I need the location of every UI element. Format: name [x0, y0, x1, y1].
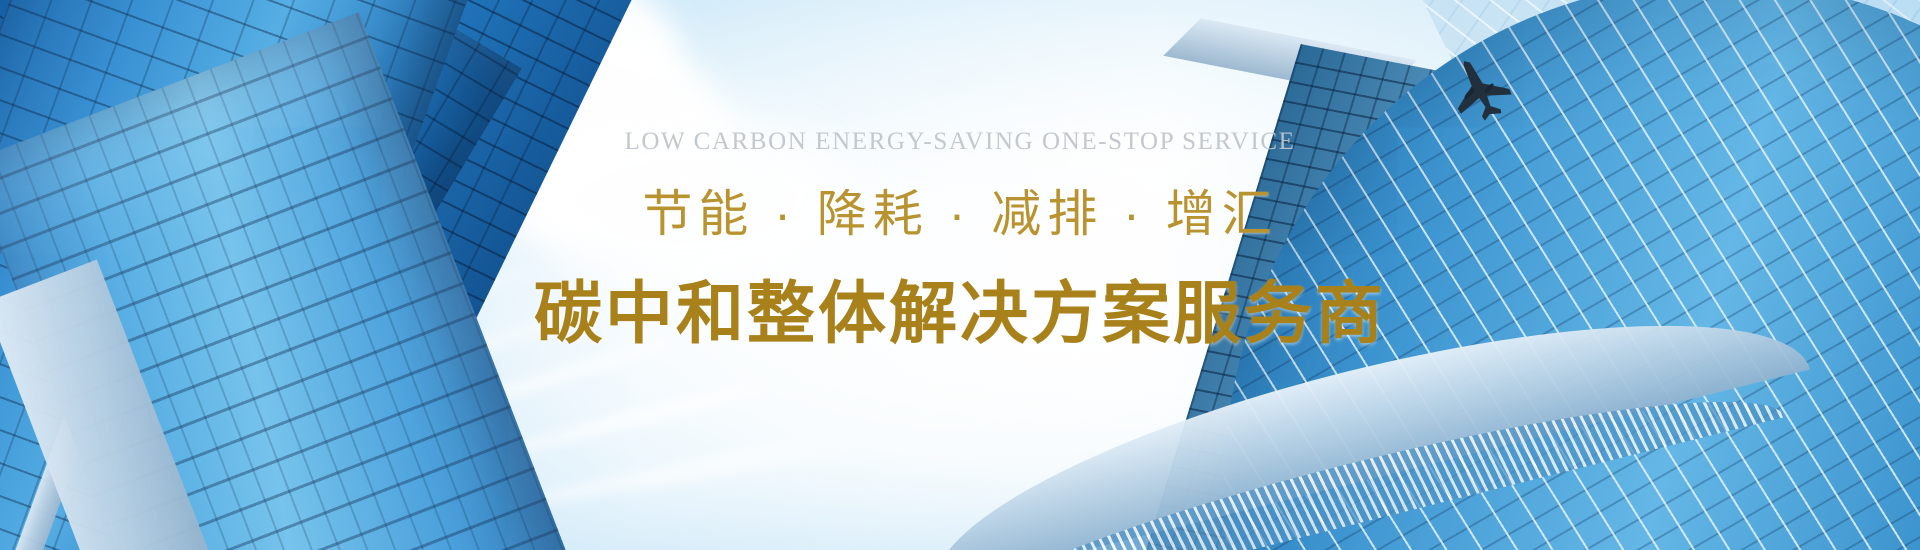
hero-banner: LOW CARBON ENERGY-SAVING ONE-STOP SERVIC…	[0, 0, 1920, 550]
cumulus-cloud	[520, 110, 850, 290]
